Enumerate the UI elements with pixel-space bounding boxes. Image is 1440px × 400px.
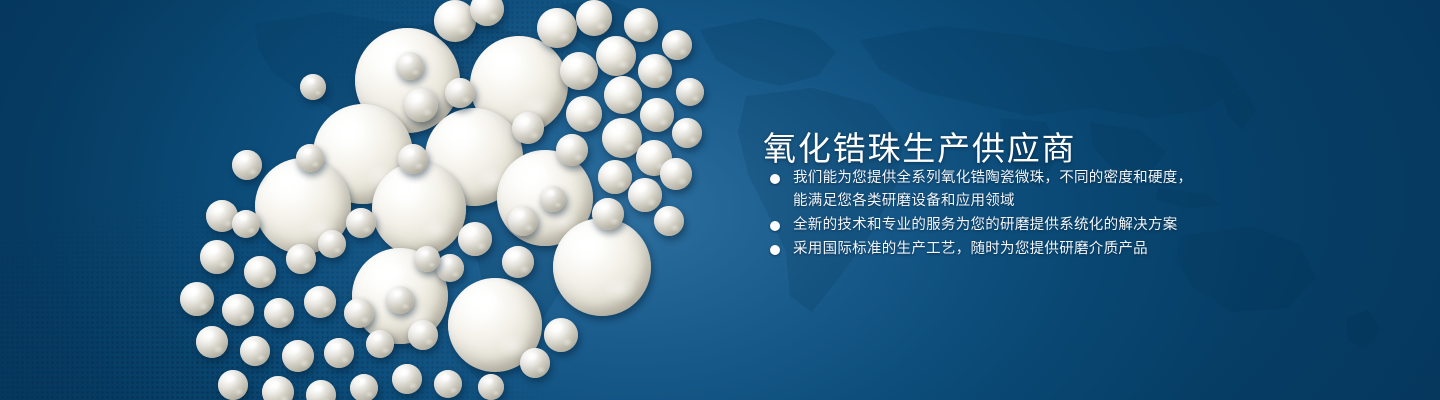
banner-text-block: 氧化锆珠生产供应商 我们能为您提供全系列氧化锆陶瓷微珠，不同的密度和硬度， 能满…	[763, 0, 1223, 400]
list-item: 我们能为您提供全系列氧化锆陶瓷微珠，不同的密度和硬度， 能满足您各类研磨设备和应…	[765, 167, 1195, 213]
page-title: 氧化锆珠生产供应商	[763, 130, 1076, 169]
hero-banner: 氧化锆珠生产供应商 我们能为您提供全系列氧化锆陶瓷微珠，不同的密度和硬度， 能满…	[0, 0, 1440, 400]
list-item: 全新的技术和专业的服务为您的研磨提供系统化的解决方案	[765, 214, 1195, 237]
bullet-dot-icon	[770, 221, 780, 231]
feature-list: 我们能为您提供全系列氧化锆陶瓷微珠，不同的密度和硬度， 能满足您各类研磨设备和应…	[765, 167, 1195, 262]
list-item: 采用国际标准的生产工艺，随时为您提供研磨介质产品	[765, 238, 1195, 261]
list-item-line: 全新的技术和专业的服务为您的研磨提供系统化的解决方案	[793, 214, 1195, 237]
bullet-dot-icon	[770, 174, 780, 184]
list-item-line: 能满足您各类研磨设备和应用领域	[793, 190, 1195, 213]
background-gradient	[0, 0, 1440, 400]
list-item-line: 我们能为您提供全系列氧化锆陶瓷微珠，不同的密度和硬度，	[793, 167, 1195, 190]
bullet-dot-icon	[770, 245, 780, 255]
list-item-line: 采用国际标准的生产工艺，随时为您提供研磨介质产品	[793, 238, 1195, 261]
